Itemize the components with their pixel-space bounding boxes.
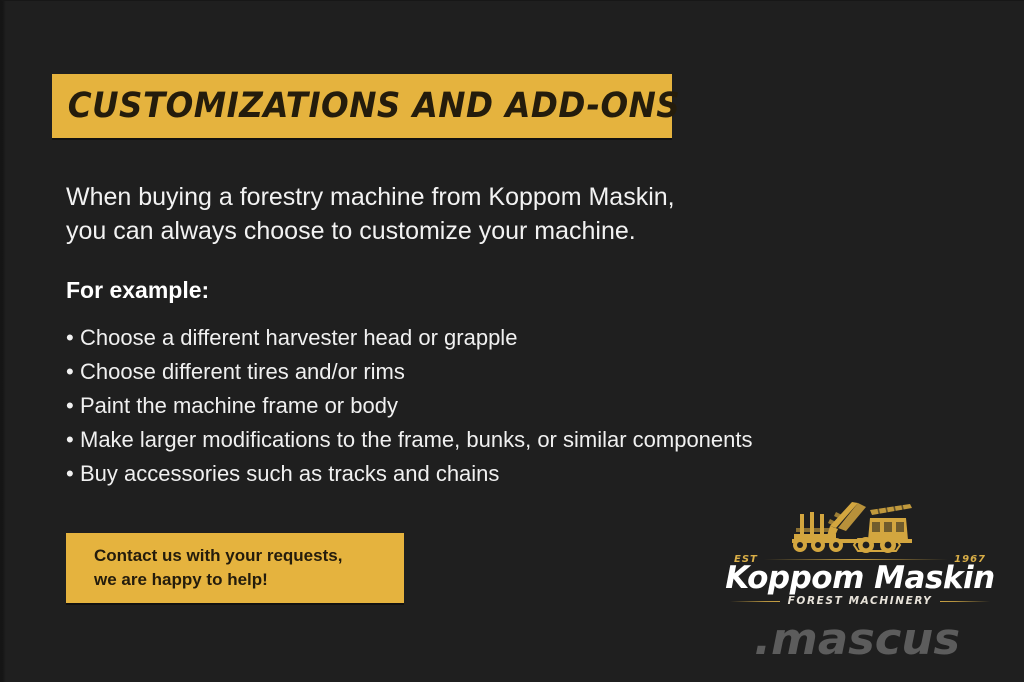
logo-brand-name: Koppom Maskin (724, 560, 996, 596)
list-item-label: Make larger modifications to the frame, … (80, 427, 753, 452)
intro-line-1: When buying a forestry machine from Kopp… (66, 180, 826, 214)
list-item: •Make larger modifications to the frame,… (66, 423, 896, 457)
list-item: •Paint the machine frame or body (66, 389, 896, 423)
cta-line-2: we are happy to help! (94, 568, 404, 592)
list-item: •Choose a different harvester head or gr… (66, 321, 896, 355)
list-item-label: Choose different tires and/or rims (80, 359, 405, 384)
logo-rule-tagline-left (730, 601, 780, 602)
list-item: •Choose different tires and/or rims (66, 355, 896, 389)
list-item: •Buy accessories such as tracks and chai… (66, 457, 896, 491)
list-item-label: Choose a different harvester head or gra… (80, 325, 517, 350)
list-item-label: Buy accessories such as tracks and chain… (80, 461, 499, 486)
cta-line-1: Contact us with your requests, (94, 544, 404, 568)
intro-line-2: you can always choose to customize your … (66, 214, 826, 248)
koppom-maskin-logo: EST 1967 Koppom Maskin FOREST MACHINERY (724, 498, 996, 610)
title-banner: CUSTOMIZATIONS AND ADD-ONS (52, 74, 672, 138)
logo-rule-tagline-right (940, 601, 990, 602)
for-example-heading: For example: (66, 277, 209, 304)
logo-tagline-row: FOREST MACHINERY (724, 595, 996, 607)
page-title: CUSTOMIZATIONS AND ADD-ONS (52, 86, 680, 126)
bullet-icon: • (66, 423, 80, 457)
logo-tagline: FOREST MACHINERY (780, 595, 941, 607)
forestry-forwarder-icon (774, 498, 954, 554)
contact-cta-box[interactable]: Contact us with your requests, we are ha… (66, 533, 404, 603)
bullet-icon: • (66, 355, 80, 389)
customization-list: •Choose a different harvester head or gr… (66, 321, 896, 491)
intro-paragraph: When buying a forestry machine from Kopp… (66, 180, 826, 248)
promo-slide: CUSTOMIZATIONS AND ADD-ONS When buying a… (0, 0, 1024, 682)
bullet-icon: • (66, 389, 80, 423)
list-item-label: Paint the machine frame or body (80, 393, 398, 418)
mascus-watermark: .mascus (754, 614, 960, 665)
bullet-icon: • (66, 321, 80, 355)
bullet-icon: • (66, 457, 80, 491)
